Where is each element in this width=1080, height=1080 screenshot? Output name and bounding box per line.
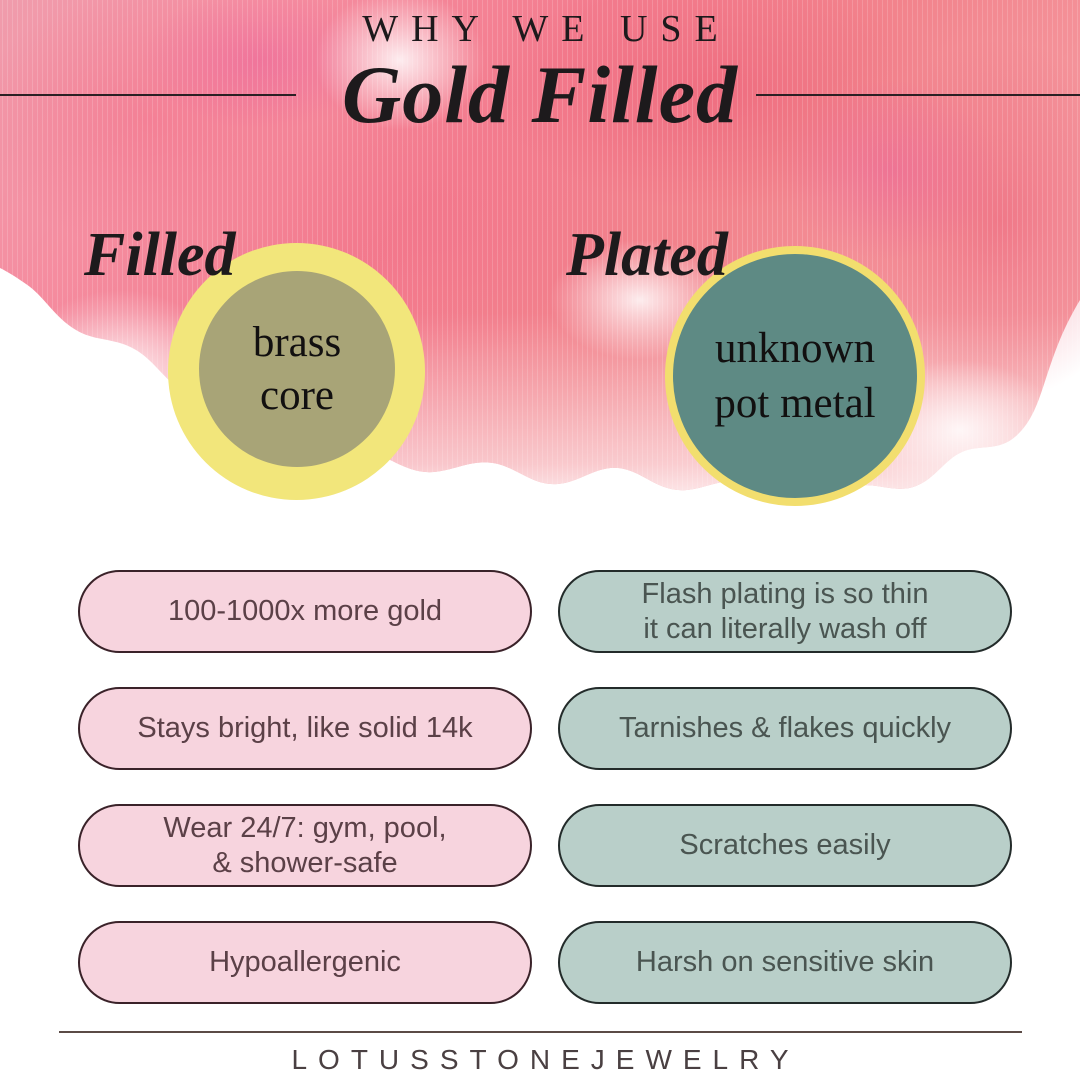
infographic-canvas: WHY WE USE Gold Filled Filled brass core… <box>0 0 1080 1080</box>
filled-circle-core-label: brass core <box>253 316 341 422</box>
header: WHY WE USE Gold Filled <box>0 0 1080 150</box>
filled-circle-core: brass core <box>199 271 395 467</box>
brand-wordmark: LOTUSSTONEJEWELRY <box>0 1043 1080 1077</box>
page-title: Gold Filled <box>0 47 1080 143</box>
comparison-pill-grid: 100-1000x more gold Flash plating is so … <box>78 570 1012 1038</box>
filled-benefit-pill: Stays bright, like solid 14k <box>78 687 532 770</box>
plated-drawback-pill: Harsh on sensitive skin <box>558 921 1012 1004</box>
comparison-row: Stays bright, like solid 14k Tarnishes &… <box>78 687 1012 770</box>
footer-rule <box>59 1031 1022 1033</box>
plated-drawback-pill: Scratches easily <box>558 804 1012 887</box>
header-eyebrow: WHY WE USE <box>0 6 1080 52</box>
comparison-row: Wear 24/7: gym, pool, & shower-safe Scra… <box>78 804 1012 887</box>
column-label-filled: Filled <box>84 220 236 290</box>
filled-benefit-pill: 100-1000x more gold <box>78 570 532 653</box>
plated-drawback-pill: Flash plating is so thin it can literall… <box>558 570 1012 653</box>
comparison-row: 100-1000x more gold Flash plating is so … <box>78 570 1012 653</box>
filled-benefit-pill: Hypoallergenic <box>78 921 532 1004</box>
comparison-row: Hypoallergenic Harsh on sensitive skin <box>78 921 1012 1004</box>
column-label-plated: Plated <box>566 220 728 290</box>
plated-circle-label: unknown pot metal <box>714 321 875 431</box>
filled-benefit-pill: Wear 24/7: gym, pool, & shower-safe <box>78 804 532 887</box>
plated-drawback-pill: Tarnishes & flakes quickly <box>558 687 1012 770</box>
